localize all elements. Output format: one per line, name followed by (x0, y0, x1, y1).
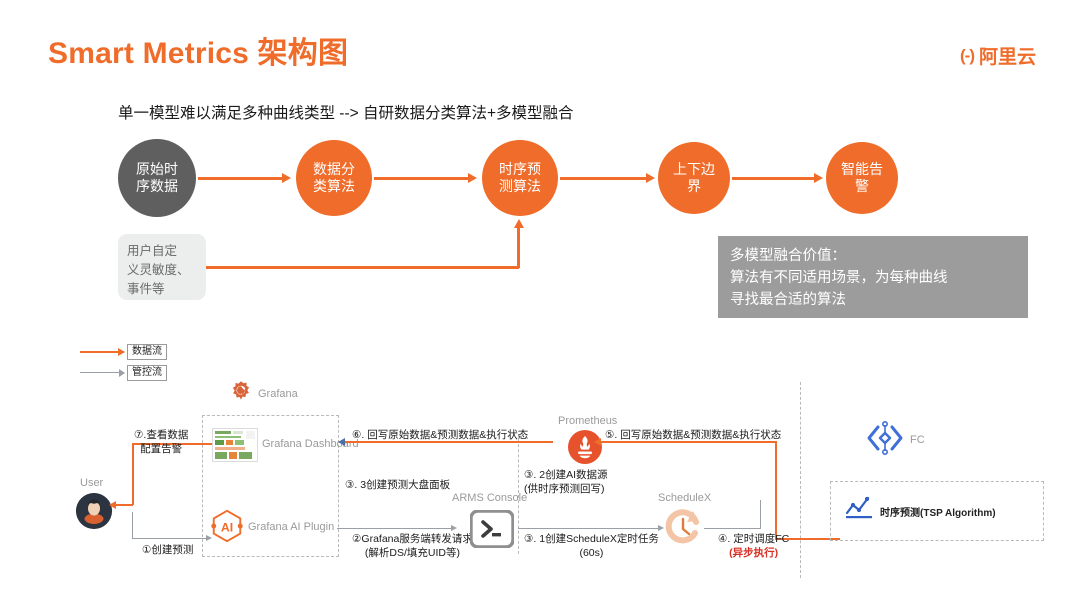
flow-step2-arrow-icon (451, 525, 457, 531)
service-name-schedulex: ScheduleX (658, 492, 711, 504)
user-label: User (80, 477, 103, 489)
legend-data-flow-line-icon (80, 351, 124, 353)
component-label-tsp-algorithm: 时序预测(TSP Algorithm) (880, 504, 996, 519)
config-feedback-horizontal (206, 266, 519, 269)
flow-user-to-dashboard-arrow-icon (109, 501, 116, 509)
pipeline-node-label: 智能告 警 (841, 161, 883, 194)
flow-step2-line (337, 528, 453, 529)
alibaba-cloud-brand-text: 阿里云 (979, 42, 1036, 69)
pipeline-arrow-2-icon (468, 173, 477, 183)
user-avatar (76, 493, 112, 529)
step-label-2: ②Grafana服务端转发请求 (解析DS/填充UID等) (352, 532, 473, 560)
legend-item-label: 数据流 (127, 344, 167, 360)
pipeline-connector-2 (374, 177, 468, 180)
step-label-3-3: ③. 3创建预测大盘面板 (345, 478, 450, 492)
pipeline-node-data-classification: 数据分 类算法 (296, 140, 372, 216)
user-custom-config-text: 用户自定 义灵敏度、 事件等 (127, 244, 190, 296)
pipeline-node-label: 时序预 测算法 (499, 161, 541, 194)
step-label-7: ⑦.查看数据 配置告警 (134, 428, 188, 456)
step-label-1: ①创建预测 (142, 543, 193, 557)
step-label-5: ⑤. 回写原始数据&预测数据&执行状态 (605, 428, 781, 442)
service-name-fc: FC (910, 434, 925, 446)
pipeline-arrow-1-icon (282, 173, 291, 183)
flow-user-to-ai-plugin-horizontal (132, 538, 208, 539)
legend-item-data-flow: 数据流 (80, 343, 167, 360)
alibaba-cloud-mark-icon: (-) (960, 46, 974, 66)
alibaba-cloud-logo: (-) 阿里云 (960, 42, 1036, 69)
arms-console-terminal-icon (470, 510, 514, 548)
pipeline-node-label: 原始时 序数据 (136, 161, 178, 194)
user-custom-config-box: 用户自定 义灵敏度、 事件等 (118, 234, 206, 300)
pipeline-node-label: 上下边 界 (673, 161, 715, 194)
fc-logo-icon (864, 418, 906, 458)
step-label-3-1: ③. 1创建ScheduleX定时任务 (60s) (524, 532, 659, 560)
config-feedback-vertical (517, 228, 520, 268)
flow-user-to-ai-plugin-arrow-icon (206, 535, 212, 541)
legend-control-flow-line-icon (80, 372, 124, 374)
step-label-4-main: ④. 定时调度FC (718, 533, 789, 545)
region-divider-right (800, 382, 801, 578)
tsp-chart-icon (845, 495, 873, 521)
flow-step3-1-arrow-icon (658, 525, 664, 531)
flow-user-to-ai-plugin-vertical (132, 512, 133, 539)
multi-model-value-box: 多模型融合价值： 算法有不同适用场景，为每种曲线 寻找最合适的算法 (718, 236, 1028, 318)
pipeline-arrow-3-icon (646, 173, 655, 183)
pipeline-node-label: 数据分 类算法 (313, 161, 355, 194)
grafana-logo-icon (228, 380, 254, 406)
flow-step6-arrow-icon (338, 438, 345, 446)
flow-step3-1-line (518, 528, 660, 529)
page-title: Smart Metrics 架构图 (48, 28, 348, 72)
pipeline-node-smart-alert: 智能告 警 (826, 142, 898, 214)
prometheus-logo-icon (568, 430, 602, 464)
legend-item-control-flow: 管控流 (80, 364, 167, 381)
flow-step5-arrow-icon (594, 438, 601, 446)
pipeline-connector-4 (732, 177, 814, 180)
pipeline-arrow-4-icon (814, 173, 823, 183)
step-label-3-2: ③. 2创建AI数据源 (供时序预测回写) (524, 468, 608, 496)
component-label-grafana-ai-plugin: Grafana AI Plugin (248, 521, 334, 533)
grafana-dashboard-thumbnail (212, 428, 258, 462)
config-feedback-arrow-icon (514, 219, 524, 228)
step-label-6: ⑥. 回写原始数据&预测数据&执行状态 (352, 428, 528, 442)
multi-model-value-text: 多模型融合价值： 算法有不同适用场景，为每种曲线 寻找最合适的算法 (730, 248, 948, 308)
flow-step4-vertical (760, 500, 761, 528)
schedulex-clock-icon (662, 508, 704, 548)
pipeline-node-raw-timeseries: 原始时 序数据 (118, 139, 196, 217)
flow-step5-vertical (775, 441, 777, 540)
pipeline-connector-1 (198, 177, 282, 180)
step-label-4-note: (异步执行) (729, 547, 778, 559)
service-name-prometheus: Prometheus (558, 415, 617, 427)
flow-step4-horizontal (704, 528, 761, 529)
pipeline-connector-3 (560, 177, 646, 180)
grafana-ai-plugin-icon: AI (208, 508, 246, 544)
legend: 数据流 管控流 (80, 343, 167, 385)
pipeline-node-timeseries-forecast: 时序预 测算法 (482, 140, 558, 216)
subtitle: 单一模型难以满足多种曲线类型 --> 自研数据分类算法+多模型融合 (118, 101, 574, 123)
flow-user-to-dashboard-bottom (114, 504, 133, 506)
pipeline-node-upper-lower-bound: 上下边 界 (658, 142, 730, 214)
legend-item-label: 管控流 (127, 365, 167, 381)
service-name-arms-console: ARMS Console (452, 492, 527, 504)
svg-text:AI: AI (221, 521, 233, 535)
service-name-grafana: Grafana (258, 388, 298, 400)
step-label-4: ④. 定时调度FC (异步执行) (718, 532, 789, 560)
